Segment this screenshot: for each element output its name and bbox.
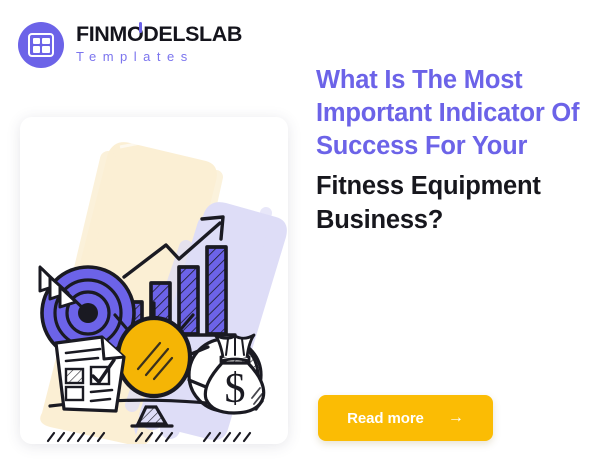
brand-wordmark: FINMODELSLAB (76, 23, 242, 46)
coin-idea-icon (118, 318, 190, 396)
arrow-right-icon: → (448, 410, 464, 426)
headline-block: What Is The Most Important Indicator Of … (316, 64, 584, 237)
document-checklist-icon (56, 337, 124, 411)
promo-banner: FINMODELSLAB Templates (0, 0, 600, 464)
brand-logo[interactable]: FINMODELSLAB Templates (18, 22, 242, 68)
grid-square-icon (18, 22, 64, 68)
headline-secondary: Fitness Equipment Business? (316, 170, 584, 236)
power-bar-icon (139, 22, 142, 33)
brand-subtitle: Templates (76, 47, 242, 67)
illustration-card: $ (20, 117, 288, 444)
read-more-button[interactable]: Read more → (318, 395, 493, 441)
grid-cell (33, 38, 40, 44)
grid-cell (42, 38, 49, 44)
read-more-label: Read more (347, 410, 424, 427)
headline-primary: What Is The Most Important Indicator Of … (316, 64, 584, 163)
brand-wordmark-text: FINMODELSLAB (76, 22, 242, 46)
grid-cell (33, 46, 40, 52)
svg-text:$: $ (225, 366, 246, 412)
brand-text: FINMODELSLAB Templates (76, 23, 242, 66)
business-success-illustration: $ (20, 117, 288, 444)
grid-cell (42, 46, 49, 52)
grid-square-icon-frame (28, 33, 54, 57)
